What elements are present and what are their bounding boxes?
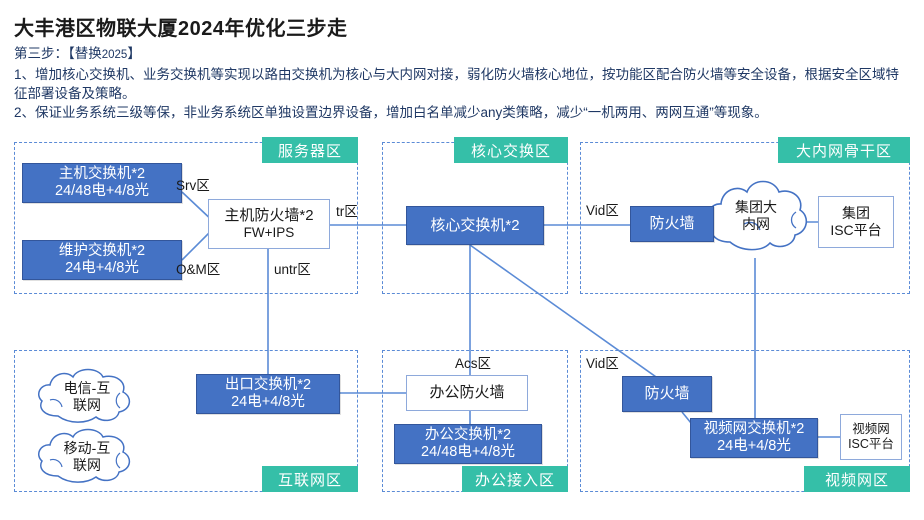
node-egress-switch-line1: 出口交换机*2 [225,377,311,394]
edge-label-untr: untr区 [274,258,311,278]
diagram-canvas: 大丰港区物联大厦2024年优化三步走 第三步：【替换2025】 1、增加核心交换… [0,0,924,520]
node-office-switch[interactable]: 办公交换机*2 24/48电+4/8光 [394,424,542,464]
edge-label-tr: tr区 [336,200,358,220]
node-group-isc-line1: 集团 [842,205,870,222]
cloud-shape-icon [28,366,146,428]
node-egress-switch-line2: 24电+4/8光 [231,394,305,411]
node-video-isc-line2: ISC平台 [848,437,894,452]
zone-label-video: 视频网区 [804,466,910,492]
node-host-firewall-line1: 主机防火墙*2 [224,207,313,225]
node-group-isc-line2: ISC平台 [830,222,881,239]
zone-label-office: 办公接入区 [462,466,568,492]
cloud-shape-icon [700,172,812,260]
node-office-firewall[interactable]: 办公防火墙 [406,375,528,411]
node-video-switch-line1: 视频网交换机*2 [704,421,805,438]
node-core-switch-line1: 核心交换机*2 [430,217,519,235]
node-backbone-firewall-line1: 防火墙 [649,215,694,233]
node-backbone-firewall[interactable]: 防火墙 [630,206,714,242]
edge-label-acs: Acs区 [455,352,491,372]
node-office-firewall-line1: 办公防火墙 [429,384,504,402]
node-maintenance-switch-line1: 维护交换机*2 [59,243,145,260]
edge-label-om: O&M区 [176,258,220,278]
node-video-switch[interactable]: 视频网交换机*2 24电+4/8光 [690,418,818,458]
edge-label-vid-bottom: Vid区 [586,352,619,372]
node-host-firewall[interactable]: 主机防火墙*2 FW+IPS [208,199,330,249]
node-video-isc-platform[interactable]: 视频网 ISC平台 [840,414,902,460]
node-host-firewall-line2: FW+IPS [244,225,295,241]
node-video-firewall[interactable]: 防火墙 [622,376,712,412]
zone-label-backbone: 大内网骨干区 [778,137,910,163]
zone-label-server: 服务器区 [262,137,358,163]
node-video-isc-line1: 视频网 [852,422,890,437]
cloud-group-intranet: 集团大 内网 [700,172,812,260]
node-host-switch-line2: 24/48电+4/8光 [55,183,149,200]
zone-label-internet: 互联网区 [262,466,358,492]
zone-label-core: 核心交换区 [454,137,568,163]
edge-label-srv: Srv区 [176,174,210,194]
node-office-switch-line2: 24/48电+4/8光 [421,444,515,461]
node-video-firewall-line1: 防火墙 [644,385,689,403]
node-video-switch-line2: 24电+4/8光 [717,438,791,455]
cloud-mobile-internet: 移动-互 联网 [28,426,146,488]
node-egress-switch[interactable]: 出口交换机*2 24电+4/8光 [196,374,340,414]
node-office-switch-line1: 办公交换机*2 [425,427,511,444]
node-maintenance-switch[interactable]: 维护交换机*2 24电+4/8光 [22,240,182,280]
node-core-switch[interactable]: 核心交换机*2 [406,206,544,245]
edge-label-vid-top: Vid区 [586,199,619,219]
node-group-isc-platform[interactable]: 集团 ISC平台 [818,196,894,248]
node-host-switch[interactable]: 主机交换机*2 24/48电+4/8光 [22,163,182,203]
node-host-switch-line1: 主机交换机*2 [59,166,145,183]
cloud-shape-icon [28,426,146,488]
node-maintenance-switch-line2: 24电+4/8光 [65,260,139,277]
cloud-telecom-internet: 电信-互 联网 [28,366,146,428]
